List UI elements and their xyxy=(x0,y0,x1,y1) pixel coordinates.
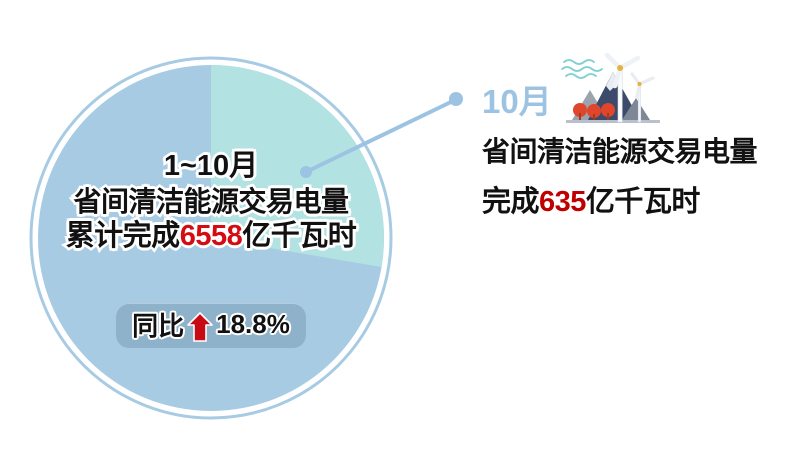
right-value-number: 635 xyxy=(539,186,586,218)
yoy-label: 同比 xyxy=(132,306,184,343)
pie-chart-svg xyxy=(28,52,398,427)
month-header-row: 10月 xyxy=(482,66,782,124)
right-value-suffix: 亿千瓦时 xyxy=(586,186,700,218)
right-value-prefix: 完成 xyxy=(482,186,539,218)
right-metric-label: 省间清洁能源交易电量 xyxy=(482,130,782,170)
pie-slice-highlight xyxy=(211,65,384,267)
yoy-badge-row: 同比 18.8% xyxy=(28,303,394,348)
callout-dot-outer xyxy=(449,92,463,106)
up-arrow-icon xyxy=(187,312,213,342)
yoy-value: 18.8% xyxy=(216,309,290,340)
status-badge: 同比 18.8% xyxy=(116,303,306,348)
wind-turbine-mountain-icon xyxy=(558,50,668,128)
right-value-line: 完成635亿千瓦时 xyxy=(482,178,782,220)
pie-chart xyxy=(28,52,398,427)
infographic-canvas: 1~10月 省间清洁能源交易电量 累计完成6558亿千瓦时 同比 18.8% 1… xyxy=(0,0,800,475)
right-panel: 10月 xyxy=(482,66,782,220)
month-label: 10月 xyxy=(482,85,552,118)
